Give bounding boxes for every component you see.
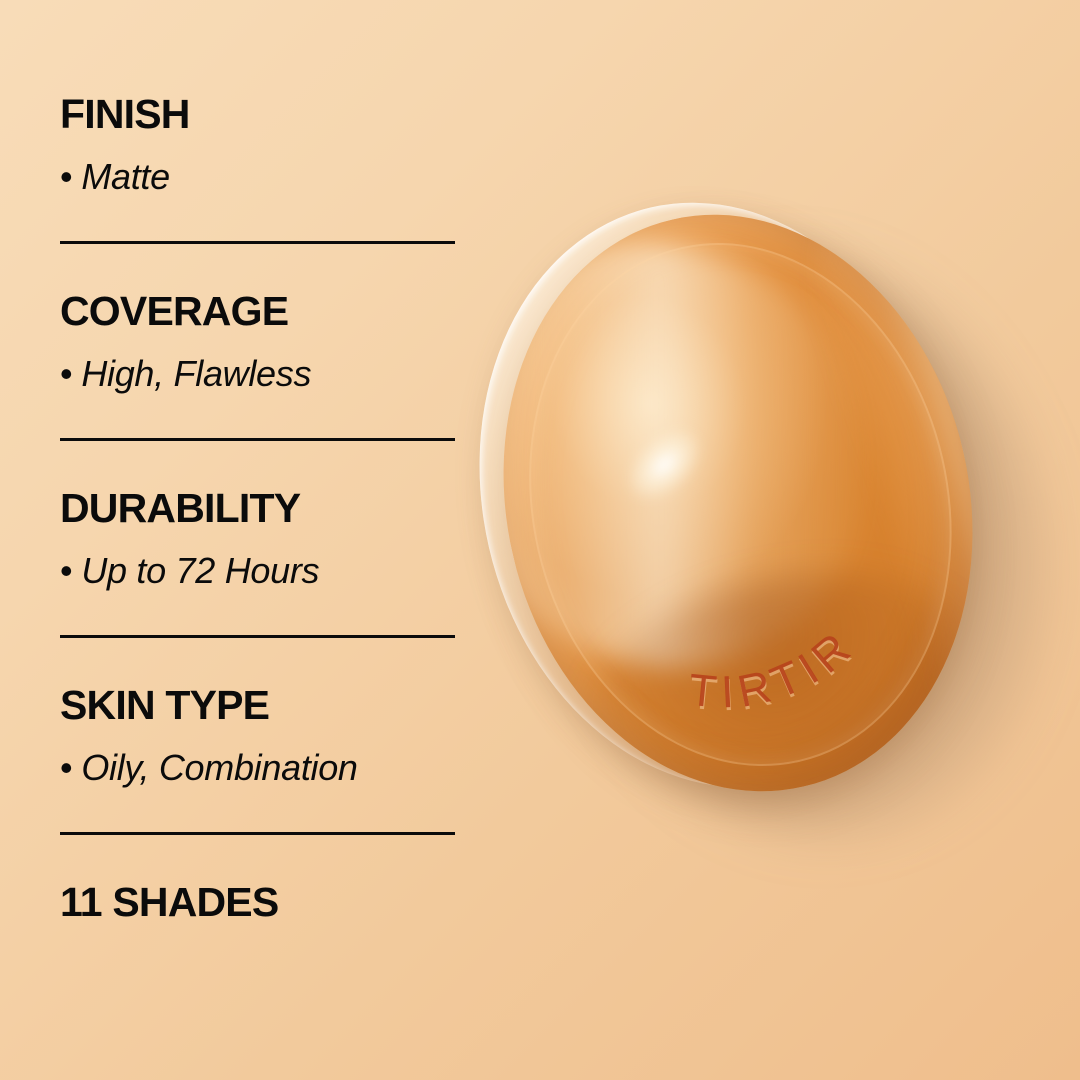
compact-case-body: TIRTIR TIRTIR <box>447 167 1028 838</box>
bullet-icon: • <box>60 159 72 195</box>
bullet-icon: • <box>60 553 72 589</box>
spec-value-skin-type: •Oily, Combination <box>60 750 480 786</box>
spec-value-durability: •Up to 72 Hours <box>60 553 480 589</box>
spec-value-coverage: •High, Flawless <box>60 356 480 392</box>
divider <box>60 241 455 244</box>
spec-heading-durability: DURABILITY <box>60 488 480 529</box>
spec-value-finish-text: Matte <box>81 156 170 197</box>
product-image: TIRTIR TIRTIR <box>455 150 1080 950</box>
spec-heading-finish: FINISH <box>60 94 480 135</box>
spec-block-finish: FINISH •Matte <box>60 94 480 244</box>
spec-value-finish: •Matte <box>60 159 480 195</box>
spec-list: FINISH •Matte COVERAGE •High, Flawless D… <box>60 94 480 923</box>
spec-block-skin-type: SKIN TYPE •Oily, Combination <box>60 685 480 835</box>
spec-value-durability-text: Up to 72 Hours <box>81 550 319 591</box>
spec-heading-coverage: COVERAGE <box>60 291 480 332</box>
product-feature-card: FINISH •Matte COVERAGE •High, Flawless D… <box>0 0 1080 1080</box>
bullet-icon: • <box>60 750 72 786</box>
divider <box>60 832 455 835</box>
spec-heading-shades: 11 SHADES <box>60 882 480 923</box>
spec-heading-skin-type: SKIN TYPE <box>60 685 480 726</box>
spec-block-durability: DURABILITY •Up to 72 Hours <box>60 488 480 638</box>
spec-value-skin-type-text: Oily, Combination <box>81 747 357 788</box>
spec-block-shades: 11 SHADES <box>60 882 480 923</box>
spec-value-coverage-text: High, Flawless <box>81 353 311 394</box>
divider <box>60 635 455 638</box>
divider <box>60 438 455 441</box>
spec-block-coverage: COVERAGE •High, Flawless <box>60 291 480 441</box>
bullet-icon: • <box>60 356 72 392</box>
